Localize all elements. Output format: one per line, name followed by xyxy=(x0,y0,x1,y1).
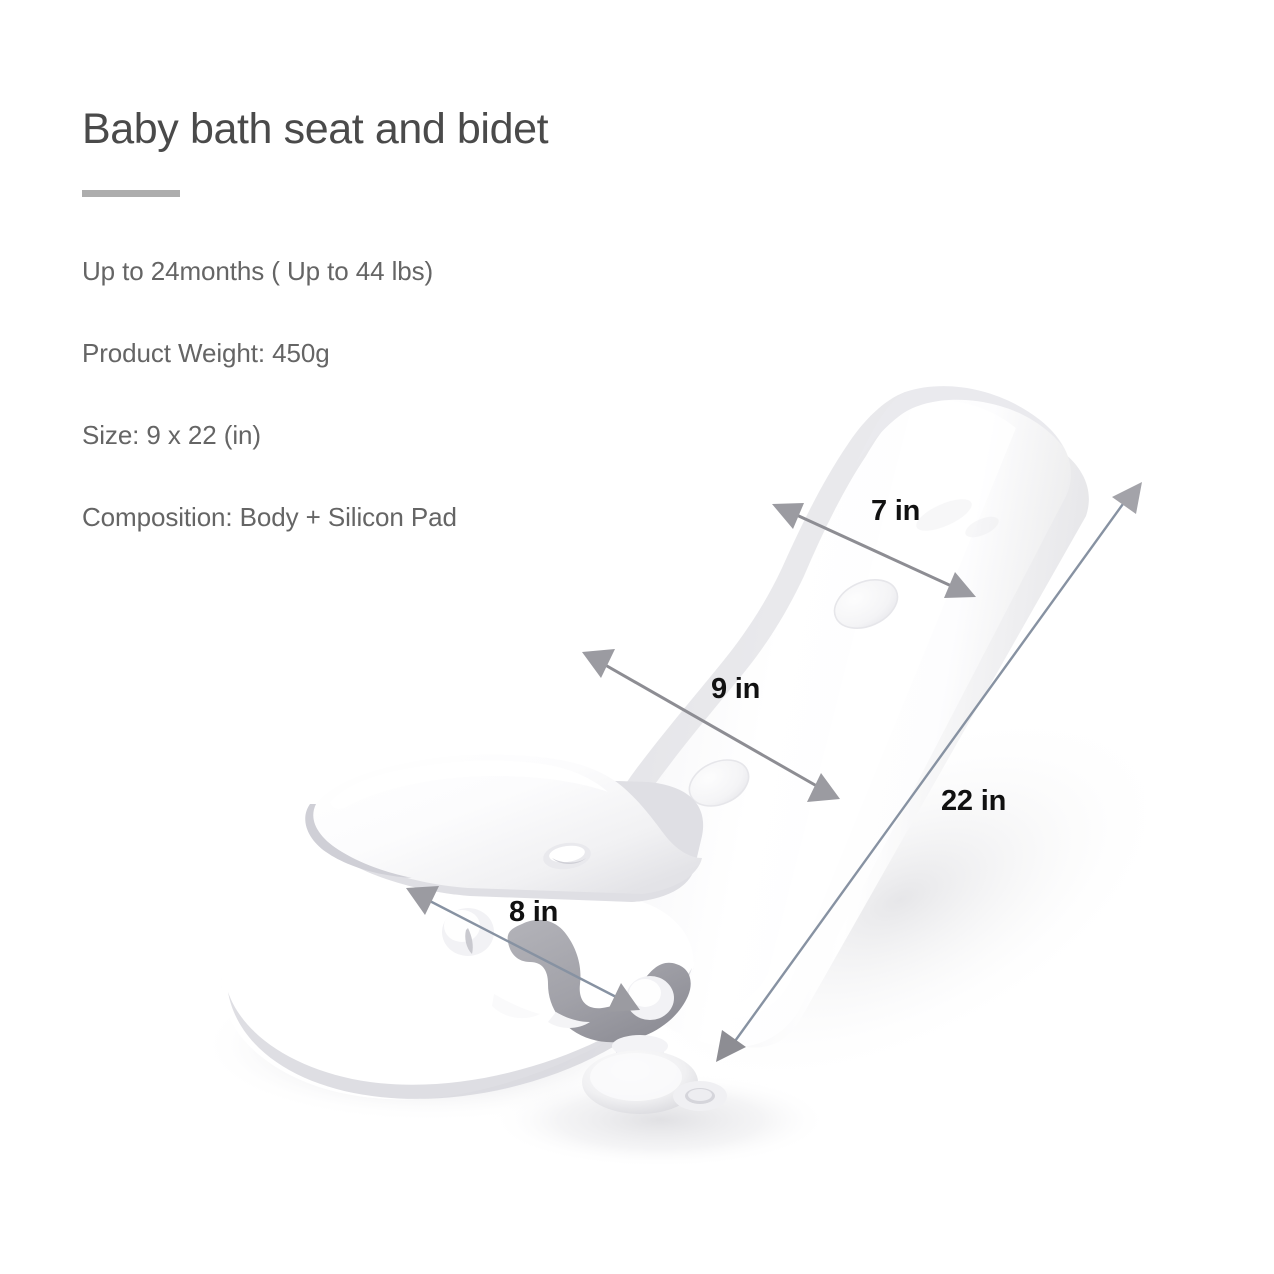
suction-cup-face xyxy=(590,1053,682,1101)
product-illustration xyxy=(0,0,1274,1274)
dimension-label-9in: 9 in xyxy=(711,673,760,706)
base-knob-left-hi xyxy=(444,910,480,942)
product-spec-page: Baby bath seat and bidet Up to 24months … xyxy=(0,0,1274,1274)
dimension-label-22in: 22 in xyxy=(941,785,1006,818)
suction-cup-tab-hole-inner xyxy=(688,1089,712,1101)
dimension-label-7in: 7 in xyxy=(871,495,920,528)
dimension-label-8in: 8 in xyxy=(509,896,558,929)
